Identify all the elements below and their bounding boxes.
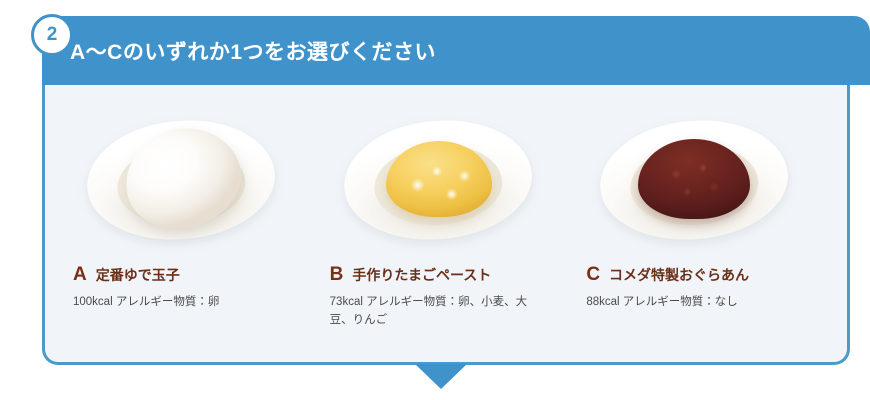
option-title-row-a: A 定番ゆで玉子 — [73, 265, 308, 284]
option-letter-b: B — [330, 265, 344, 284]
option-letter-c: C — [586, 265, 600, 284]
option-title-row-b: B 手作りたまごペースト — [330, 265, 565, 284]
option-title-row-c: C コメダ特製おぐらあん — [586, 265, 821, 284]
option-meta-a: 100kcal アレルギー物質：卵 — [73, 293, 285, 311]
options-list: A 定番ゆで玉子 100kcal アレルギー物質：卵 B 手作りたまごペースト … — [45, 85, 847, 362]
food-image-c — [586, 103, 801, 253]
step-header-bar: A〜Cのいずれか1つをお選びください — [42, 16, 870, 85]
step-section: A〜Cのいずれか1つをお選びください 2 A 定番ゆで玉子 100kcal アレ… — [0, 0, 870, 400]
option-name-a: 定番ゆで玉子 — [96, 267, 180, 284]
triangle-down-icon — [415, 364, 467, 389]
option-card-a[interactable]: A 定番ゆで玉子 100kcal アレルギー物質：卵 — [61, 103, 318, 362]
step-title: A〜Cのいずれか1つをお選びください — [70, 36, 436, 66]
options-panel: A 定番ゆで玉子 100kcal アレルギー物質：卵 B 手作りたまごペースト … — [42, 85, 850, 365]
step-number-badge: 2 — [31, 14, 73, 56]
option-letter-a: A — [73, 265, 87, 284]
egg-paste-icon — [386, 141, 492, 217]
option-card-c[interactable]: C コメダ特製おぐらあん 88kcal アレルギー物質：なし — [574, 103, 831, 362]
option-name-b: 手作りたまごペースト — [352, 267, 491, 284]
option-name-c: コメダ特製おぐらあん — [609, 267, 749, 284]
food-image-b — [330, 103, 545, 253]
option-meta-c: 88kcal アレルギー物質：なし — [586, 293, 798, 311]
food-image-a — [73, 103, 288, 253]
option-meta-b: 73kcal アレルギー物質：卵、小麦、大豆、りんご — [330, 293, 542, 330]
step-number-label: 2 — [47, 25, 58, 44]
option-card-b[interactable]: B 手作りたまごペースト 73kcal アレルギー物質：卵、小麦、大豆、りんご — [318, 103, 575, 362]
